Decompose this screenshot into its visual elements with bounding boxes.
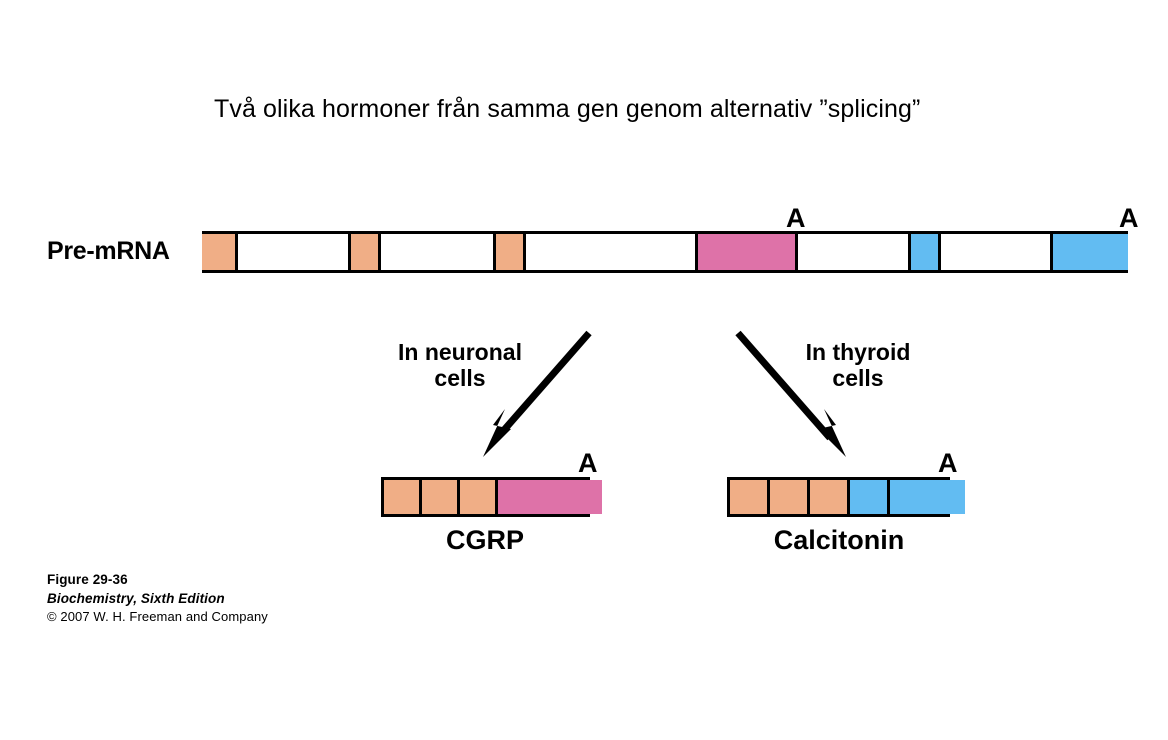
product-name-calcitonin: Calcitonin [728, 525, 950, 556]
calcitonin-exon [810, 480, 847, 514]
arrow-to-cgrp [475, 325, 600, 460]
cgrp-exon [422, 480, 457, 514]
figure-canvas: Två olika hormoner från samma gen genom … [0, 0, 1168, 740]
premrna-exon [348, 234, 378, 270]
premrna-exon-boundary [348, 234, 351, 270]
premrna-exon [695, 234, 795, 270]
premrna-exon-boundary [908, 234, 911, 270]
premrna-label: Pre-mRNA [47, 237, 170, 266]
premrna-exon [493, 234, 523, 270]
caption-figure-number: Figure 29-36 [47, 570, 268, 589]
caption-book-title: Biochemistry, Sixth Edition [47, 589, 268, 608]
premrna-exon-boundary [1050, 234, 1053, 270]
premrna-exon-boundary [378, 234, 381, 270]
poly-a-marker-calcitonin-site: A [1119, 205, 1139, 232]
calcitonin-exon [770, 480, 807, 514]
calcitonin-exon [890, 480, 965, 514]
premrna-exon-boundary [235, 234, 238, 270]
premrna-exon [908, 234, 938, 270]
caption-copyright: © 2007 W. H. Freeman and Company [47, 608, 268, 626]
figure-title: Två olika hormoner från samma gen genom … [214, 95, 920, 124]
cgrp-bar [381, 477, 590, 517]
premrna-exon-boundary [938, 234, 941, 270]
premrna-exon [202, 234, 235, 270]
calcitonin-bar [727, 477, 950, 517]
premrna-exon [1050, 234, 1128, 270]
poly-a-marker-cgrp-site: A [786, 205, 806, 232]
arrow-to-calcitonin [730, 325, 855, 460]
cgrp-exon [384, 480, 419, 514]
calcitonin-exon [850, 480, 887, 514]
product-name-cgrp: CGRP [385, 525, 585, 556]
premrna-exon-boundary [795, 234, 798, 270]
poly-a-marker-cgrp: A [578, 450, 598, 477]
cgrp-exon [460, 480, 495, 514]
cgrp-exon [498, 480, 602, 514]
calcitonin-exon [730, 480, 767, 514]
poly-a-marker-calcitonin: A [938, 450, 958, 477]
premrna-exon-boundary [695, 234, 698, 270]
premrna-exon-boundary [493, 234, 496, 270]
premrna-bar [202, 231, 1128, 273]
figure-caption: Figure 29-36 Biochemistry, Sixth Edition… [47, 570, 268, 627]
premrna-exon-boundary [523, 234, 526, 270]
